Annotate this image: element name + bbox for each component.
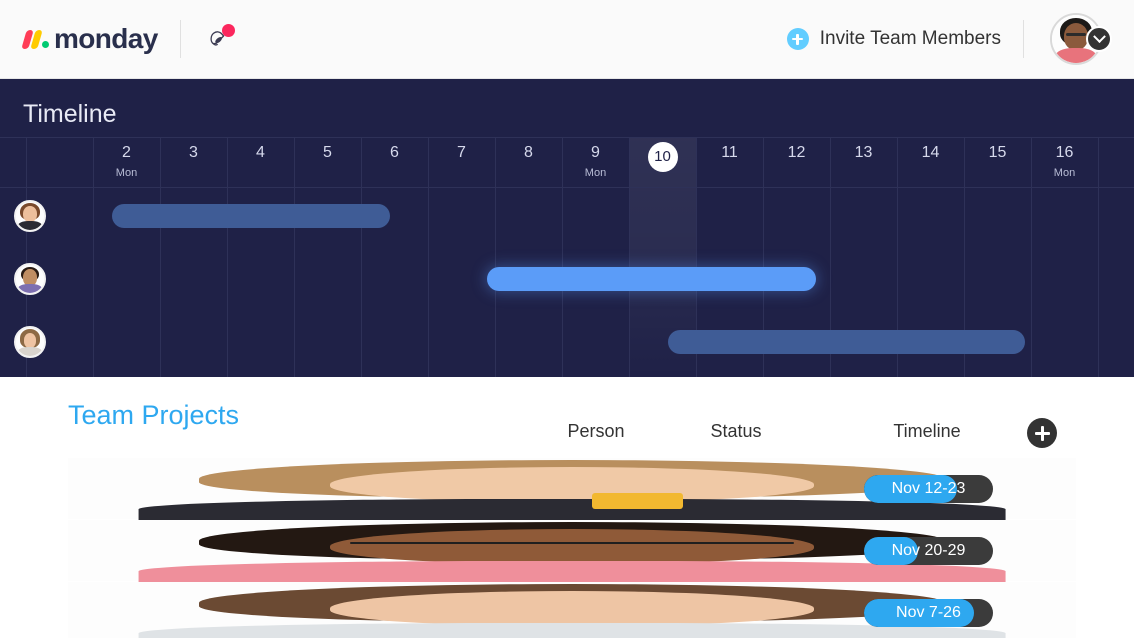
timeline-bar[interactable] — [487, 267, 816, 291]
table-row[interactable]: New HomepageDoneNov 12-23 — [68, 458, 1076, 519]
avatar — [571, 591, 615, 635]
timeline-day-cell[interactable]: 14 — [897, 138, 964, 189]
invite-team-members-button[interactable]: Invite Team Members — [787, 28, 1001, 50]
timeline-day-cell[interactable]: 7 — [428, 138, 495, 189]
timeline-pill[interactable]: Nov 20-29 — [864, 537, 993, 565]
timeline-day-cell[interactable]: 2Mon — [93, 138, 160, 189]
timeline-day-number: 3 — [160, 138, 227, 168]
timeline-day-cell[interactable]: 3 — [160, 138, 227, 189]
timeline-bar[interactable] — [112, 204, 390, 228]
timeline-day-cell[interactable]: 6 — [361, 138, 428, 189]
timeline-day-cell[interactable]: 13 — [830, 138, 897, 189]
timeline-date-header: 2Mon3456789Mon10111213141516Mon — [0, 137, 1134, 188]
timeline-day-number: 12 — [763, 138, 830, 168]
timeline-day-number: 7 — [428, 138, 495, 168]
timeline-day-number: 8 — [495, 138, 562, 168]
top-navigation-bar: monday Invite Team Members — [0, 0, 1134, 79]
table-row[interactable]: Web CampaignWorking on itNov 7-26 — [68, 582, 1076, 638]
timeline-pill-label: Nov 12-23 — [892, 480, 966, 498]
timeline-day-number: 10 — [648, 142, 678, 172]
account-menu[interactable] — [1050, 13, 1112, 65]
monday-app-window: monday Invite Team Members — [0, 0, 1134, 638]
timeline-day-cell[interactable]: 5 — [294, 138, 361, 189]
avatar — [14, 263, 46, 295]
column-header-timeline[interactable]: Timeline — [834, 421, 1020, 442]
logo-wordmark: monday — [54, 23, 158, 55]
timeline-title: Timeline — [23, 100, 117, 129]
invite-team-members-label: Invite Team Members — [820, 28, 1001, 50]
timeline-rows-area — [0, 188, 1134, 377]
timeline-day-number: 6 — [361, 138, 428, 168]
topbar-divider-left — [180, 20, 181, 58]
plus-circle-icon — [787, 28, 809, 50]
notification-badge — [222, 24, 235, 37]
chevron-down-icon[interactable] — [1086, 26, 1112, 52]
monday-logo[interactable]: monday — [24, 23, 158, 55]
timeline-day-number: 2 — [93, 138, 160, 168]
timeline-pill-label: Nov 7-26 — [896, 604, 961, 622]
timeline-day-number: 14 — [897, 138, 964, 168]
timeline-bar[interactable] — [668, 330, 1025, 354]
timeline-pill-label: Nov 20-29 — [892, 542, 966, 560]
timeline-day-cell[interactable]: 15 — [964, 138, 1031, 189]
timeline-day-cell[interactable]: 10 — [629, 138, 696, 189]
board-title: Team Projects — [68, 400, 239, 431]
avatar — [14, 326, 46, 358]
timeline-gridline — [26, 138, 27, 187]
bell-icon[interactable] — [203, 23, 235, 55]
column-header-person[interactable]: Person — [548, 421, 644, 442]
timeline-day-number: 9 — [562, 138, 629, 168]
timeline-day-weekday: Mon — [1031, 168, 1098, 178]
timeline-day-number: 4 — [227, 138, 294, 168]
timeline-day-cell[interactable]: 12 — [763, 138, 830, 189]
avatar — [14, 200, 46, 232]
logo-dot-green — [42, 41, 49, 48]
timeline-day-number: 13 — [830, 138, 897, 168]
board-rows: New HomepageDoneNov 12-23RoadmapDoneNov … — [68, 458, 1076, 638]
add-column-button[interactable] — [1027, 418, 1057, 448]
cell-person[interactable] — [549, 582, 635, 638]
topbar-divider-right — [1023, 20, 1024, 58]
column-header-status[interactable]: Status — [640, 421, 832, 442]
timeline-day-weekday: Mon — [562, 168, 629, 178]
timeline-pill[interactable]: Nov 12-23 — [864, 475, 993, 503]
timeline-day-cell[interactable]: 11 — [696, 138, 763, 189]
timeline-day-cell[interactable]: 9Mon — [562, 138, 629, 189]
timeline-day-number: 11 — [696, 138, 763, 168]
topbar-right-group: Invite Team Members — [787, 0, 1134, 78]
timeline-day-cell[interactable]: 4 — [227, 138, 294, 189]
timeline-day-weekday: Mon — [93, 168, 160, 178]
cell-person[interactable] — [549, 520, 635, 581]
avatar — [571, 529, 615, 573]
timeline-pill[interactable]: Nov 7-26 — [864, 599, 993, 627]
cell-person[interactable] — [549, 458, 635, 519]
timeline-gridline — [1098, 138, 1099, 187]
timeline-day-number: 15 — [964, 138, 1031, 168]
topbar-left-group: monday — [0, 0, 235, 78]
timeline-day-cell[interactable]: 8 — [495, 138, 562, 189]
table-row[interactable]: RoadmapDoneNov 20-29 — [68, 520, 1076, 581]
timeline-panel: Timeline 2Mon3456789Mon10111213141516Mon — [0, 79, 1134, 377]
logo-mark-icon — [24, 30, 49, 49]
timeline-day-cell[interactable]: 16Mon — [1031, 138, 1098, 189]
avatar — [571, 467, 615, 511]
timeline-day-number: 16 — [1031, 138, 1098, 168]
timeline-day-number: 5 — [294, 138, 361, 168]
